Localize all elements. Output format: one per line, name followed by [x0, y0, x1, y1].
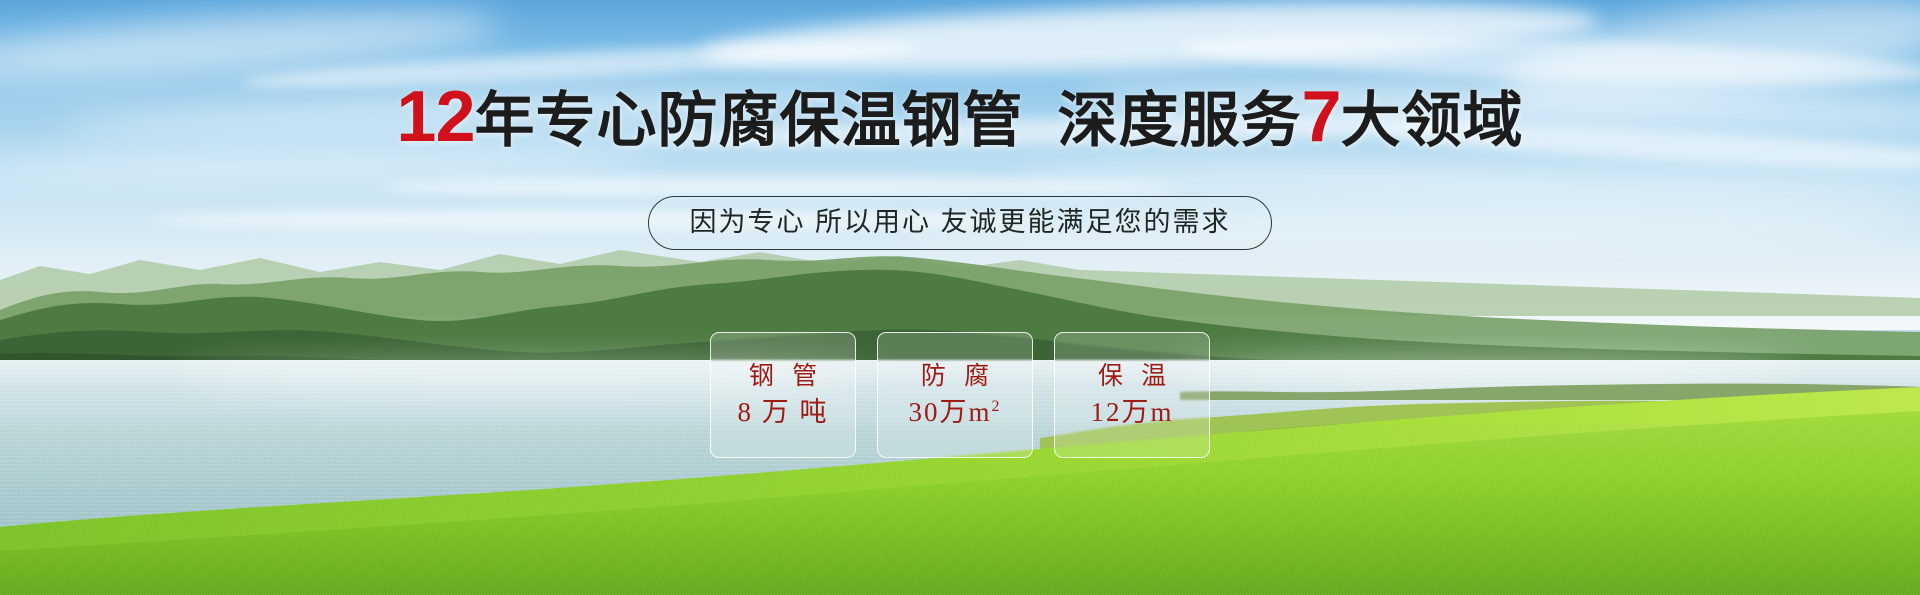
stat-card-value: 8 万 吨	[738, 396, 829, 430]
stat-value-superscript: 2	[992, 398, 1002, 415]
stat-value-text: 8 万 吨	[738, 397, 829, 427]
headline-text-secondary: 深度服务	[1058, 87, 1302, 154]
headline-text-primary: 年专心防腐保温钢管	[475, 87, 1024, 154]
banner-content: 12年专心防腐保温钢管深度服务7大领域 因为专心 所以用心 友诚更能满足您的需求…	[0, 0, 1920, 595]
stat-value-text: 12万m	[1090, 397, 1173, 427]
stat-card-label: 防 腐	[915, 361, 995, 392]
stat-card-value: 30万m2	[908, 396, 1001, 430]
headline-number-fields: 7	[1302, 77, 1341, 157]
stat-card-label: 钢 管	[743, 361, 823, 392]
banner-subtitle-wrap: 因为专心 所以用心 友诚更能满足您的需求	[0, 196, 1920, 250]
stat-card-steel-pipe[interactable]: 钢 管 8 万 吨	[710, 332, 856, 458]
banner-subtitle-pill: 因为专心 所以用心 友诚更能满足您的需求	[648, 196, 1271, 250]
stat-card-label: 保 温	[1092, 361, 1172, 392]
stat-card-anticorrosion[interactable]: 防 腐 30万m2	[877, 332, 1033, 458]
stat-cards: 钢 管 8 万 吨 防 腐 30万m2 保 温 12万m	[0, 332, 1920, 458]
hero-banner: 12年专心防腐保温钢管深度服务7大领域 因为专心 所以用心 友诚更能满足您的需求…	[0, 0, 1920, 595]
banner-headline: 12年专心防腐保温钢管深度服务7大领域	[0, 80, 1920, 156]
stat-value-text: 30万m	[908, 397, 991, 427]
stat-card-value: 12万m	[1090, 396, 1173, 430]
stat-card-insulation[interactable]: 保 温 12万m	[1054, 332, 1210, 458]
headline-number-years: 12	[396, 77, 474, 157]
headline-text-tertiary: 大领域	[1341, 87, 1524, 154]
